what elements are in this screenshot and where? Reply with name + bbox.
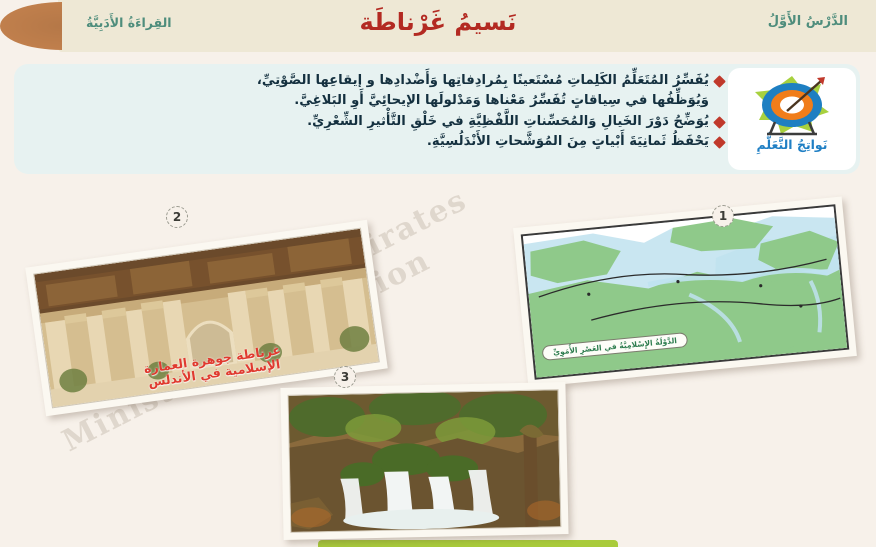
target-bullseye-svg bbox=[751, 74, 833, 136]
card-number-badge-2: 2 bbox=[166, 206, 188, 228]
target-bullseye-icon bbox=[751, 74, 833, 136]
waterfall-image bbox=[288, 389, 562, 533]
diamond-bullet-icon bbox=[713, 136, 726, 149]
textbook-page: United Arab Emirates Ministry of Educati… bbox=[0, 0, 876, 547]
subject-label: القِراءَةُ الأَدَبِيَّةُ bbox=[86, 15, 172, 30]
outcome-item-continuation: وَيُوَظِّفُها في سِياقاتٍ تُفَسِّرُ مَعْ… bbox=[24, 91, 724, 110]
outcome-item: يُوَضِّحُ دَوْرَ الخَيالِ وَالمُحَسِّنات… bbox=[24, 112, 724, 131]
map-image: الدَّوْلَةُ الإِسْلامِيَّةُ في العَصْرِ … bbox=[521, 204, 850, 380]
page-header: الدَّرْسُ الأَوَّلُ نَسيمُ غَرْناطَة الق… bbox=[0, 0, 876, 56]
alhambra-image: غرناطة جوهرة العمارة الإسلامية في الأندل… bbox=[33, 228, 380, 409]
card-number-badge-1: 1 bbox=[712, 205, 734, 227]
waterfall-scene-svg bbox=[288, 390, 561, 533]
card-number-badge-3: 3 bbox=[334, 366, 356, 388]
outcome-text: يُفَسِّرُ المُتَعَلِّمُ الكَلِماتِ مُسْت… bbox=[24, 71, 709, 90]
outcome-text: يَحْفَظُ ثَمانِيَةَ أَبْياتٍ مِنَ المُوَ… bbox=[24, 132, 709, 151]
bottom-accent-bar bbox=[318, 540, 618, 547]
learning-outcomes-label: نَواتِجُ التَّعَلُّمِ bbox=[757, 137, 828, 152]
diamond-bullet-icon bbox=[713, 75, 726, 88]
diamond-bullet-icon bbox=[713, 116, 726, 129]
outcome-text: يُوَضِّحُ دَوْرَ الخَيالِ وَالمُحَسِّنات… bbox=[24, 112, 709, 131]
outcome-item: يَحْفَظُ ثَمانِيَةَ أَبْياتٍ مِنَ المُوَ… bbox=[24, 132, 724, 151]
learning-outcomes-panel: نَواتِجُ التَّعَلُّمِ يُفَسِّرُ المُتَعَ… bbox=[14, 64, 860, 174]
learning-outcomes-icon-card: نَواتِجُ التَّعَلُّمِ bbox=[728, 68, 856, 170]
waterfall-photo-card[interactable] bbox=[280, 382, 568, 540]
learning-outcomes-list: يُفَسِّرُ المُتَعَلِّمُ الكَلِماتِ مُسْت… bbox=[24, 71, 724, 152]
map-photo-card[interactable]: الدَّوْلَةُ الإِسْلامِيَّةُ في العَصْرِ … bbox=[513, 197, 857, 388]
outcome-text-continued: وَيُوَظِّفُها في سِياقاتٍ تُفَسِّرُ مَعْ… bbox=[24, 91, 709, 110]
outcome-item: يُفَسِّرُ المُتَعَلِّمُ الكَلِماتِ مُسْت… bbox=[24, 71, 724, 90]
